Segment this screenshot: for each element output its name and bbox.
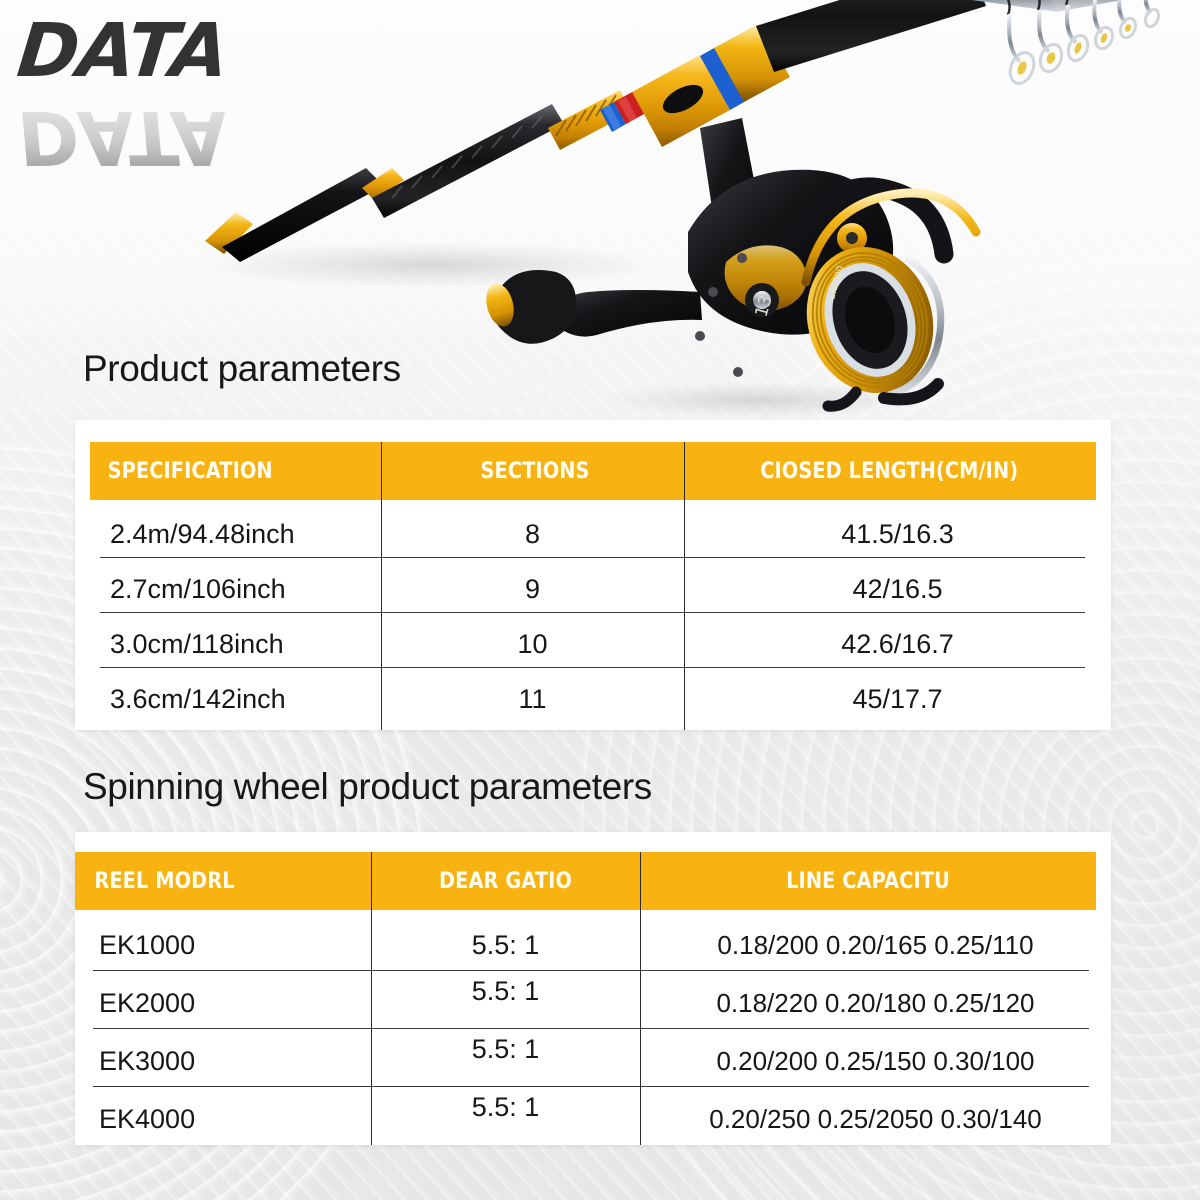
cell-gear-ratio: 5.5: 1 [371, 1034, 640, 1065]
cell-sections: 8 [381, 519, 684, 550]
table-row: 2.4m/94.48inch 8 41.5/16.3 [75, 510, 1111, 558]
spinning-wheel-parameters-table: REEL MODRL DEAR GATIO LINE CAPACITU EK10… [75, 832, 1111, 1145]
table-row: EK1000 5.5: 1 0.18/200 0.20/165 0.25/110 [75, 920, 1111, 970]
table-body: 2.4m/94.48inch 8 41.5/16.3 2.7cm/106inch… [75, 420, 1111, 730]
table-row: EK4000 5.5: 1 0.20/250 0.25/2050 0.30/14… [75, 1094, 1111, 1144]
cell-line-capacity: 0.20/200 0.25/150 0.30/100 [640, 1046, 1111, 1077]
cell-gear-ratio: 5.5: 1 [371, 976, 640, 1007]
cell-closed-length: 42/16.5 [684, 574, 1111, 605]
cell-closed-length: 42.6/16.7 [684, 629, 1111, 660]
table-row: 2.7cm/106inch 9 42/16.5 [75, 565, 1111, 613]
cell-reel-model: EK4000 [75, 1104, 371, 1135]
cell-gear-ratio: 5.5: 1 [371, 930, 640, 961]
cell-line-capacity: 0.20/250 0.25/2050 0.30/140 [640, 1104, 1111, 1135]
table-row: EK3000 5.5: 1 0.20/200 0.25/150 0.30/100 [75, 1036, 1111, 1086]
cell-reel-model: EK1000 [75, 930, 371, 961]
cell-sections: 10 [381, 629, 684, 660]
cell-closed-length: 45/17.7 [684, 684, 1111, 715]
product-spec-page: DATA DATA [0, 0, 1200, 1200]
cell-specification: 3.0cm/118inch [75, 629, 381, 660]
product-parameters-table: SPECIFICATION SECTIONS CIOSED LENGTH(CM/… [75, 420, 1111, 730]
cell-specification: 2.7cm/106inch [75, 574, 381, 605]
table-row: EK2000 5.5: 1 0.18/220 0.20/180 0.25/120 [75, 978, 1111, 1028]
table-row: 3.0cm/118inch 10 42.6/16.7 [75, 620, 1111, 668]
cell-closed-length: 41.5/16.3 [684, 519, 1111, 550]
cell-sections: 9 [381, 574, 684, 605]
page-title-product-parameters: Product parameters [83, 348, 401, 390]
cell-line-capacity: 0.18/220 0.20/180 0.25/120 [640, 988, 1111, 1019]
cell-reel-model: EK2000 [75, 988, 371, 1019]
page-title-spinning-wheel-parameters: Spinning wheel product parameters [83, 766, 652, 808]
table-body: EK1000 5.5: 1 0.18/200 0.20/165 0.25/110… [75, 832, 1111, 1145]
cell-line-capacity: 0.18/200 0.20/165 0.25/110 [640, 930, 1111, 961]
cell-specification: 2.4m/94.48inch [75, 519, 381, 550]
cell-specification: 3.6cm/142inch [75, 684, 381, 715]
table-row: 3.6cm/142inch 11 45/17.7 [75, 675, 1111, 723]
cell-sections: 11 [381, 684, 684, 715]
cell-gear-ratio: 5.5: 1 [371, 1092, 640, 1123]
cell-reel-model: EK3000 [75, 1046, 371, 1077]
